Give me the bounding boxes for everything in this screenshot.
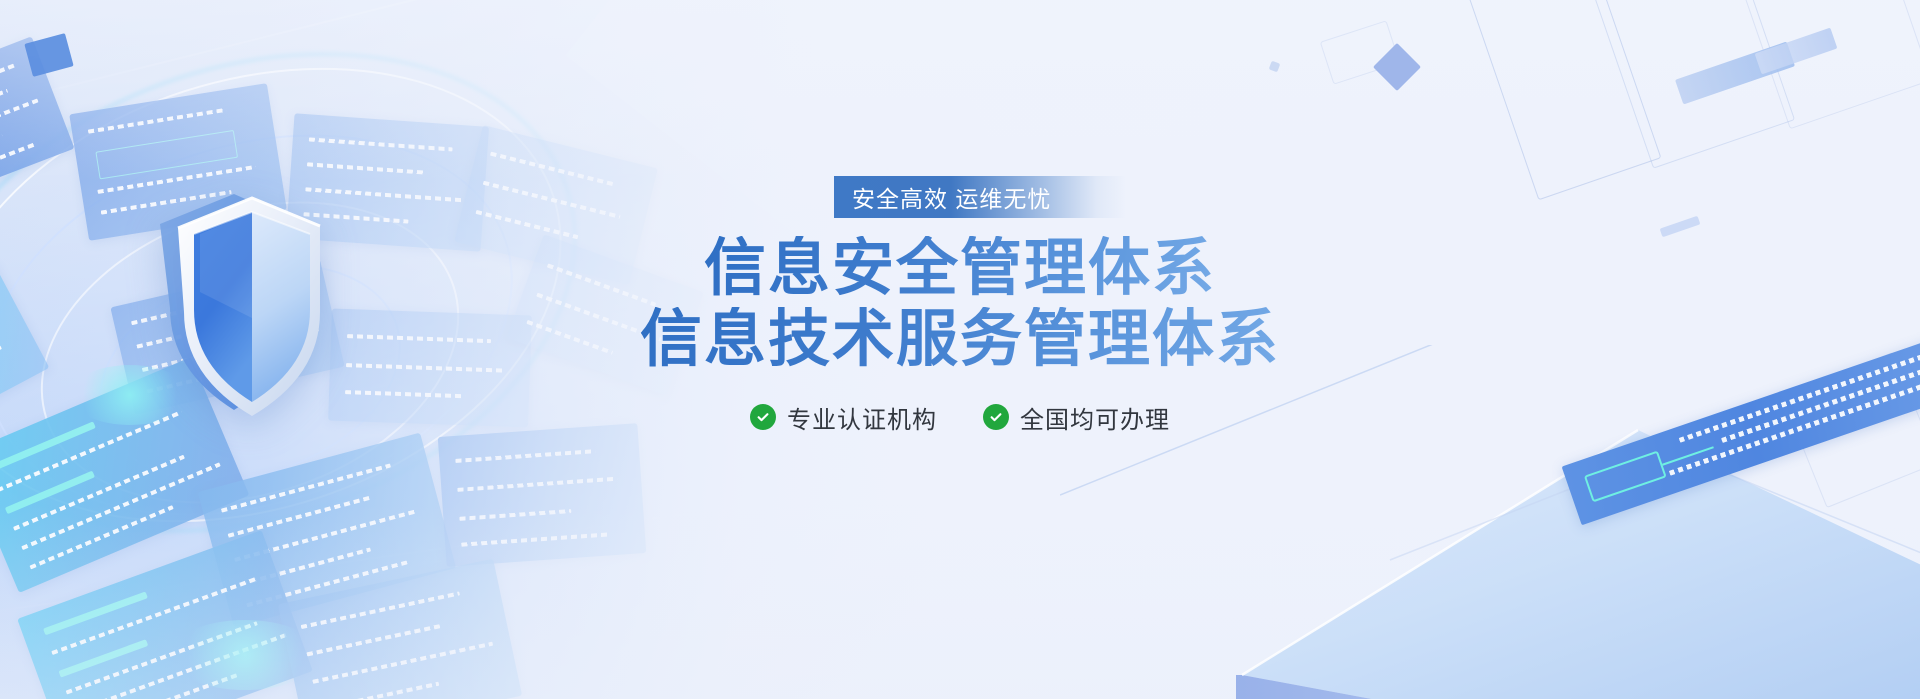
feature-label: 全国均可办理: [1020, 400, 1170, 435]
feature-item: 专业认证机构: [750, 400, 937, 435]
feature-label: 专业认证机构: [787, 400, 937, 435]
hero-banner: 安全高效 运维无忧 信息安全管理体系 信息技术服务管理体系 专业认证机构 全国均…: [0, 0, 1920, 699]
feature-list: 专业认证机构 全国均可办理: [750, 400, 1170, 435]
check-circle-icon: [983, 404, 1009, 430]
page-title-line-2: 信息技术服务管理体系: [640, 307, 1280, 374]
banner-content: 安全高效 运维无忧 信息安全管理体系 信息技术服务管理体系 专业认证机构 全国均…: [0, 0, 1920, 699]
tagline-badge: 安全高效 运维无忧: [834, 176, 1126, 218]
feature-item: 全国均可办理: [983, 400, 1170, 435]
check-circle-icon: [750, 404, 776, 430]
page-title-line-1: 信息安全管理体系: [704, 236, 1216, 303]
